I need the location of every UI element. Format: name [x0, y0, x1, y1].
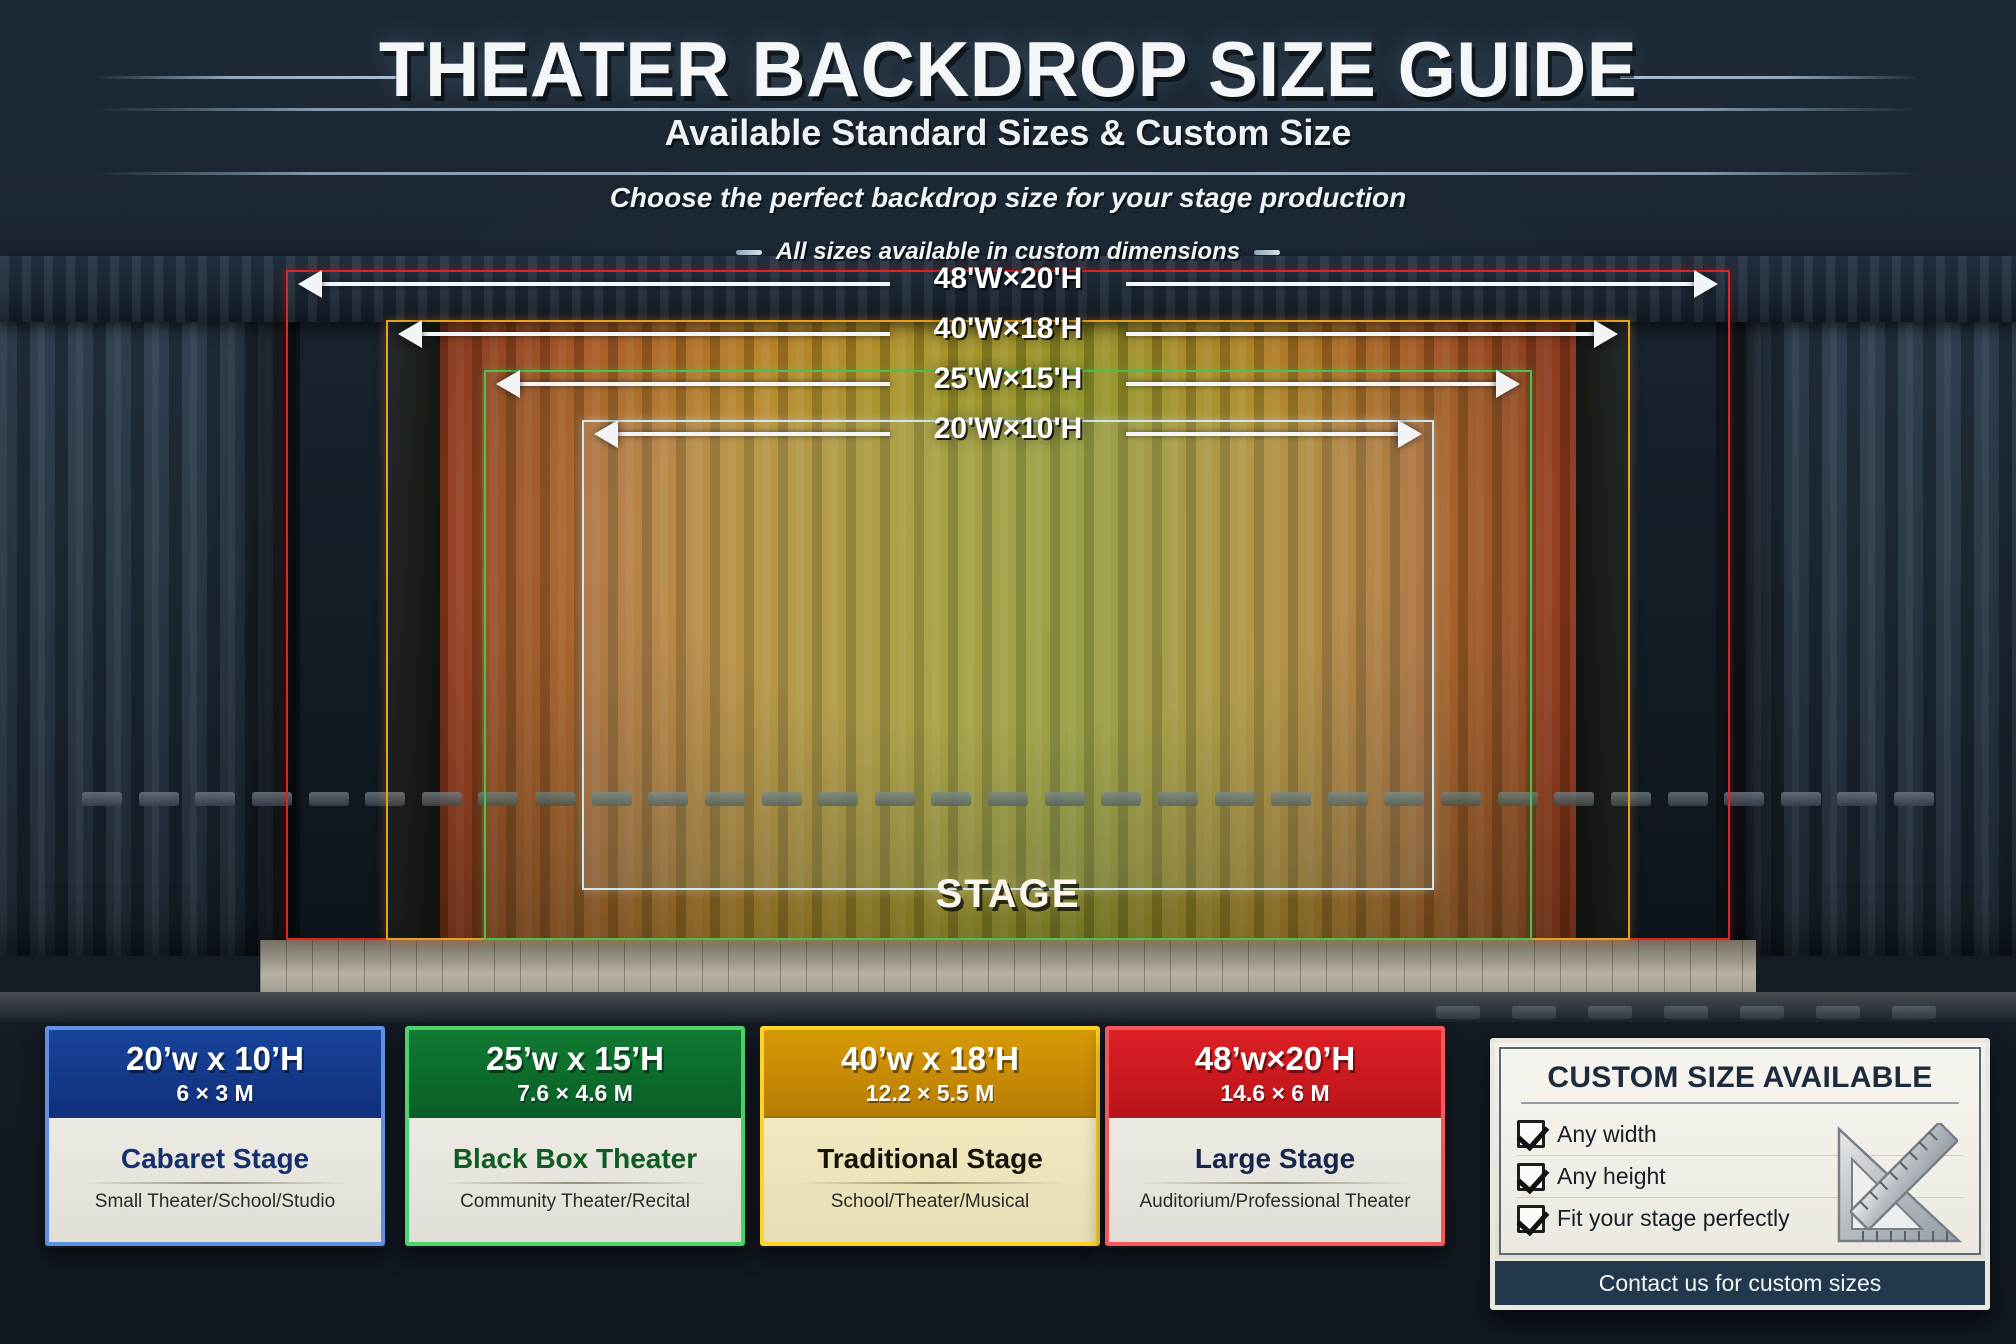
size-card-divider	[796, 1182, 1064, 1184]
custom-panel-item-label: Any height	[1557, 1163, 1666, 1190]
header-rule-lower	[96, 172, 1920, 175]
size-card[interactable]: 20’w x 10’H6 × 3 MCabaret StageSmall The…	[45, 1026, 385, 1246]
size-card-description: Small Theater/School/Studio	[95, 1191, 335, 1213]
arrow-right-icon	[1594, 320, 1618, 348]
custom-dimensions-note: All sizes available in custom dimensions	[0, 238, 2016, 266]
size-card-divider	[1141, 1182, 1409, 1184]
size-label: 40'W×18'H	[922, 312, 1095, 346]
size-card-title: Black Box Theater	[453, 1143, 697, 1175]
size-label: 20'W×10'H	[922, 412, 1095, 446]
size-card-body: Traditional StageSchool/Theater/Musical	[764, 1118, 1096, 1242]
dimension-arrow-line	[520, 382, 890, 386]
header: THEATER BACKDROP SIZE GUIDE Available St…	[0, 0, 2016, 268]
size-card-header: 25’w x 15’H7.6 × 4.6 M	[409, 1030, 741, 1118]
arrow-right-icon	[1694, 270, 1718, 298]
note-text: All sizes available in custom dimensions	[776, 238, 1240, 266]
size-card-metric: 7.6 × 4.6 M	[517, 1080, 633, 1107]
dimension-arrow-line	[422, 332, 890, 336]
size-card-header: 48’w×20’H14.6 × 6 M	[1109, 1030, 1441, 1118]
custom-size-panel[interactable]: CUSTOM SIZE AVAILABLE Any widthAny heigh…	[1490, 1038, 1990, 1310]
footlight-dash	[1740, 1006, 1784, 1019]
arrow-right-icon	[1496, 370, 1520, 398]
footlight-dash	[1588, 1006, 1632, 1019]
custom-panel-item-label: Fit your stage perfectly	[1557, 1205, 1790, 1232]
size-label: 25'W×15'H	[922, 362, 1095, 396]
dimension-arrow-line	[1126, 332, 1594, 336]
footlight-dash	[1512, 1006, 1556, 1019]
size-card-title: Traditional Stage	[817, 1143, 1043, 1175]
size-card-dimension: 20’w x 10’H	[126, 1040, 304, 1078]
dimension-arrow-line	[618, 432, 890, 436]
dash-left-icon	[736, 250, 762, 255]
arrow-left-icon	[298, 270, 322, 298]
page-subtitle: Available Standard Sizes & Custom Size	[0, 112, 2016, 154]
dimension-arrow-line	[1126, 432, 1398, 436]
footlight-dash	[1816, 1006, 1860, 1019]
arrow-left-icon	[594, 420, 618, 448]
dash-right-icon	[1254, 250, 1280, 255]
size-card-metric: 6 × 3 M	[176, 1080, 253, 1107]
ruler-square-icon	[1819, 1123, 1969, 1249]
dimension-arrow-line	[322, 282, 890, 286]
size-card-header: 40’w x 18’H12.2 × 5.5 M	[764, 1030, 1096, 1118]
size-card-metric: 12.2 × 5.5 M	[866, 1080, 995, 1107]
infographic-background: THEATER BACKDROP SIZE GUIDE Available St…	[0, 0, 2016, 1344]
size-card-dimension: 48’w×20’H	[1195, 1040, 1356, 1078]
size-rectangles: 48'W×20'H40'W×18'H25'W×15'H20'W×10'H	[0, 256, 2016, 956]
checkbox-checked-icon[interactable]	[1517, 1205, 1545, 1233]
custom-panel-item-label: Any width	[1557, 1121, 1657, 1148]
size-card-description: Auditorium/Professional Theater	[1139, 1191, 1410, 1213]
page-tagline: Choose the perfect backdrop size for you…	[0, 182, 2016, 214]
custom-panel-inner: CUSTOM SIZE AVAILABLE Any widthAny heigh…	[1499, 1047, 1981, 1255]
dimension-arrow-line	[1126, 382, 1496, 386]
size-card-body: Cabaret StageSmall Theater/School/Studio	[49, 1118, 381, 1242]
size-card-description: Community Theater/Recital	[460, 1191, 690, 1213]
footlight-dash	[1664, 1006, 1708, 1019]
footlight-row-2	[1436, 1004, 1936, 1020]
size-card-body: Black Box TheaterCommunity Theater/Recit…	[409, 1118, 741, 1242]
page-title: THEATER BACKDROP SIZE GUIDE	[40, 24, 1975, 115]
size-card-dimension: 40’w x 18’H	[841, 1040, 1019, 1078]
arrow-right-icon	[1398, 420, 1422, 448]
size-card-description: School/Theater/Musical	[831, 1191, 1030, 1213]
custom-panel-footer[interactable]: Contact us for custom sizes	[1495, 1259, 1985, 1305]
size-card-divider	[81, 1182, 349, 1184]
size-card[interactable]: 25’w x 15’H7.6 × 4.6 MBlack Box TheaterC…	[405, 1026, 745, 1246]
checkbox-checked-icon[interactable]	[1517, 1120, 1545, 1148]
custom-panel-divider	[1521, 1102, 1959, 1104]
size-card-divider	[441, 1182, 709, 1184]
size-card-body: Large StageAuditorium/Professional Theat…	[1109, 1118, 1441, 1242]
size-card[interactable]: 48’w×20’H14.6 × 6 MLarge StageAuditorium…	[1105, 1026, 1445, 1246]
footlight-dash	[1436, 1006, 1480, 1019]
size-card[interactable]: 40’w x 18’H12.2 × 5.5 MTraditional Stage…	[760, 1026, 1100, 1246]
footlight-dash	[1892, 1006, 1936, 1019]
arrow-left-icon	[398, 320, 422, 348]
stage-label: STAGE	[0, 872, 2016, 917]
custom-panel-title: CUSTOM SIZE AVAILABLE	[1517, 1061, 1963, 1095]
size-card-header: 20’w x 10’H6 × 3 M	[49, 1030, 381, 1118]
arrow-left-icon	[496, 370, 520, 398]
size-card-metric: 14.6 × 6 M	[1220, 1080, 1329, 1107]
checkbox-checked-icon[interactable]	[1517, 1163, 1545, 1191]
size-card-dimension: 25’w x 15’H	[486, 1040, 664, 1078]
size-card-title: Large Stage	[1195, 1143, 1355, 1175]
dimension-arrow-line	[1126, 282, 1694, 286]
size-rectangle	[582, 420, 1434, 890]
size-card-title: Cabaret Stage	[121, 1143, 309, 1175]
